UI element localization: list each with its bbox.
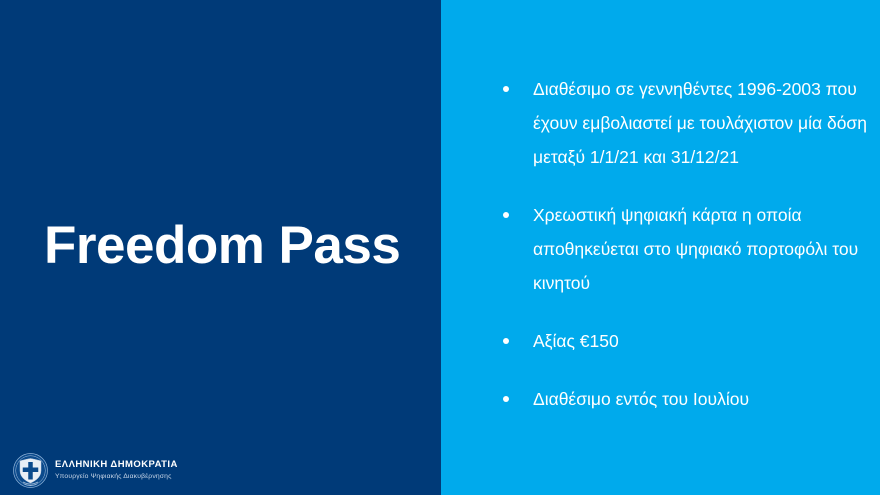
list-item: Αξίας €150 <box>497 324 867 358</box>
page-title: Freedom Pass <box>44 218 424 274</box>
list-item-label: Αξίας €150 <box>533 324 867 358</box>
bullet-dot-icon <box>503 338 509 344</box>
content-panel: Διαθέσιμο σε γεννηθέντες 1996-2003 που έ… <box>441 0 880 495</box>
bullet-dot-icon <box>503 396 509 402</box>
list-item: Διαθέσιμο εντός του Ιουλίου <box>497 382 867 416</box>
list-item: Χρεωστική ψηφιακή κάρτα η οποία αποθηκεύ… <box>497 198 867 300</box>
list-item-label: Διαθέσιμο σε γεννηθέντες 1996-2003 που έ… <box>533 72 867 174</box>
logo-title: ΕΛΛΗΝΙΚΗ ΔΗΜΟΚΡΑΤΙΑ <box>55 459 178 471</box>
list-item-label: Χρεωστική ψηφιακή κάρτα η οποία αποθηκεύ… <box>533 198 867 300</box>
bullet-dot-icon <box>503 212 509 218</box>
list-item: Διαθέσιμο σε γεννηθέντες 1996-2003 που έ… <box>497 72 867 174</box>
government-logo-lockup: ΕΛΛΗΝΙΚΗ ΔΗΜΟΚΡΑΤΙΑ Υπουργείο Ψηφιακής Δ… <box>13 453 178 488</box>
bullet-dot-icon <box>503 86 509 92</box>
list-item-label: Διαθέσιμο εντός του Ιουλίου <box>533 382 867 416</box>
greek-coat-of-arms-icon <box>13 453 48 488</box>
logo-text-block: ΕΛΛΗΝΙΚΗ ΔΗΜΟΚΡΑΤΙΑ Υπουργείο Ψηφιακής Δ… <box>55 458 178 482</box>
title-panel: Freedom Pass ΕΛΛΗΝΙΚΗ ΔΗΜΟΚΡΑΤΙΑ Υπουργε… <box>0 0 441 495</box>
presentation-slide: Freedom Pass ΕΛΛΗΝΙΚΗ ΔΗΜΟΚΡΑΤΙΑ Υπουργε… <box>0 0 880 495</box>
logo-subtitle: Υπουργείο Ψηφιακής Διακυβέρνησης <box>55 472 178 482</box>
bullet-list: Διαθέσιμο σε γεννηθέντες 1996-2003 που έ… <box>497 72 867 416</box>
